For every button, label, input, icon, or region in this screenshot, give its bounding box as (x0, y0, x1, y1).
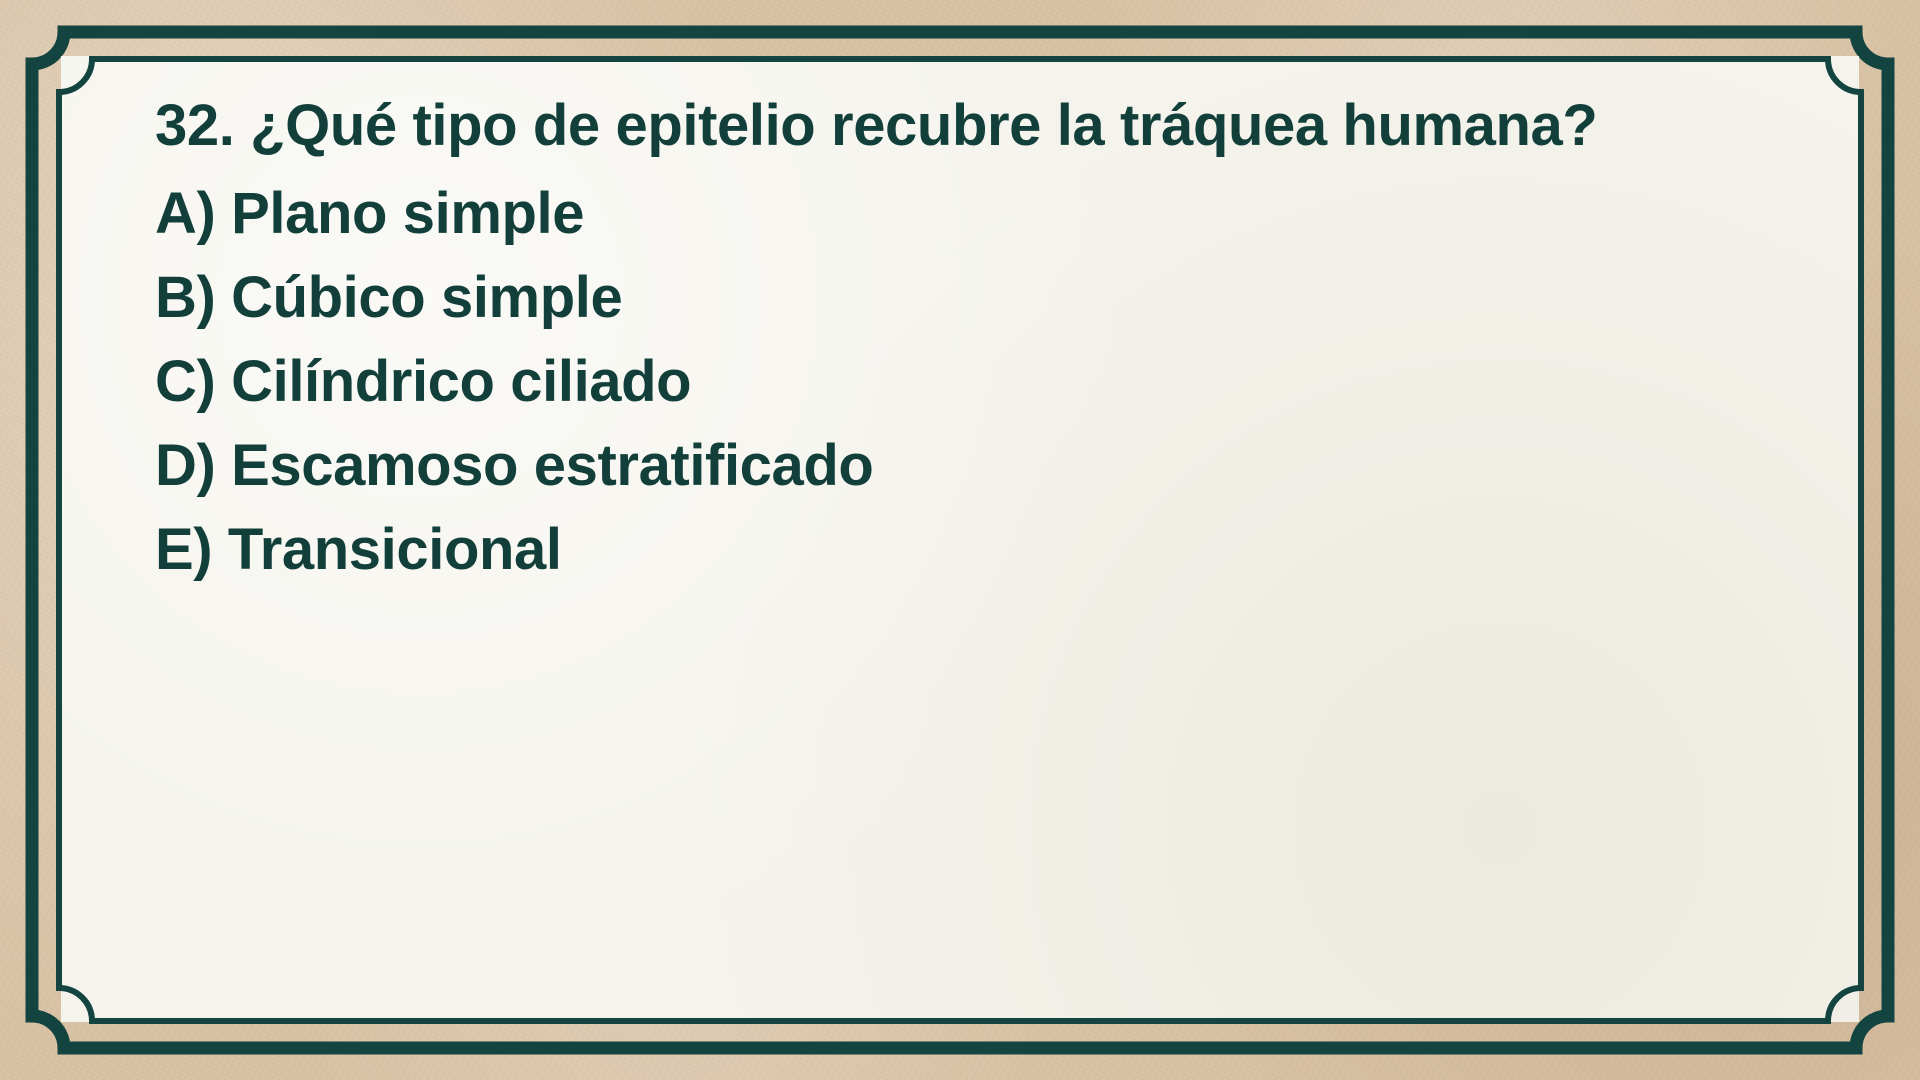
answer-option-c[interactable]: C) Cilíndrico ciliado (155, 340, 1755, 424)
answer-option-d[interactable]: D) Escamoso estratificado (155, 424, 1755, 508)
question-prompt: 32. ¿Qué tipo de epitelio recubre la trá… (155, 84, 1725, 168)
answer-option-a[interactable]: A) Plano simple (155, 172, 1755, 256)
answer-option-e[interactable]: E) Transicional (155, 508, 1755, 592)
quiz-card-root: 32. ¿Qué tipo de epitelio recubre la trá… (0, 0, 1920, 1080)
question-content: 32. ¿Qué tipo de epitelio recubre la trá… (155, 84, 1755, 592)
answer-options-list: A) Plano simple B) Cúbico simple C) Cilí… (155, 172, 1755, 592)
answer-option-b[interactable]: B) Cúbico simple (155, 256, 1755, 340)
